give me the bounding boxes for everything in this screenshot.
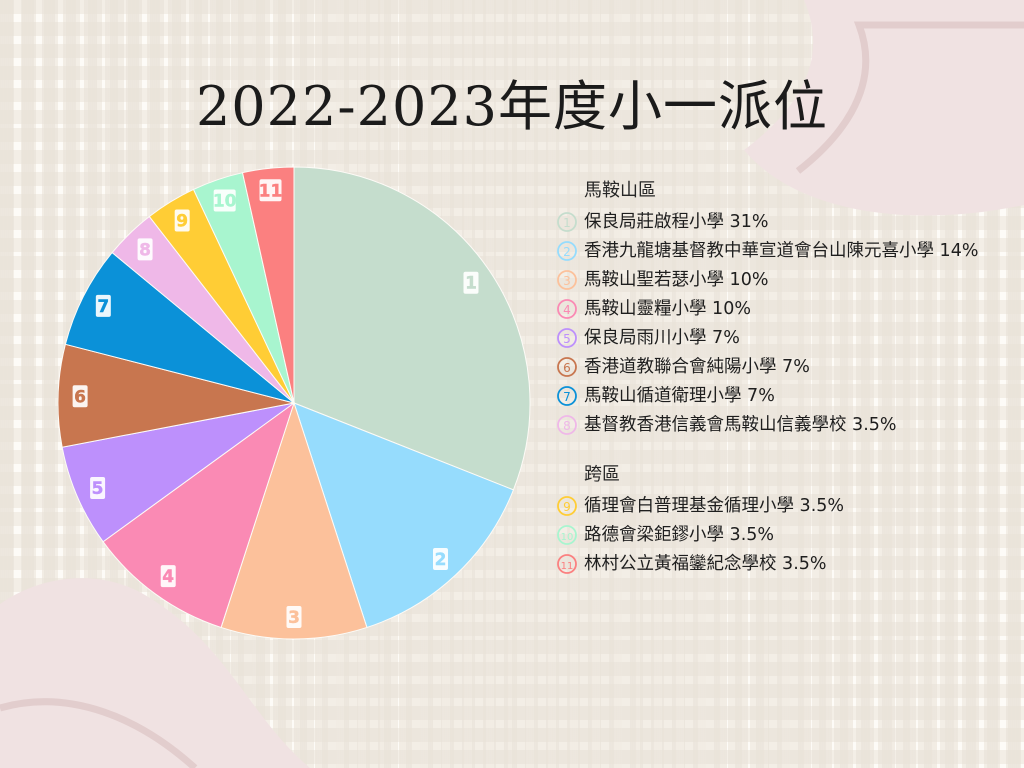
legend-item-label: 馬鞍山聖若瑟小學 10%: [584, 269, 768, 291]
legend-group-district: 1保良局莊啟程小學 31%2香港九龍塘基督教中華宣道會台山陳元喜小學 14%3馬…: [556, 211, 1018, 436]
legend-item-11[interactable]: 11林村公立黃福鑾紀念學校 3.5%: [556, 553, 1018, 575]
pie-slice-label-5: 5: [90, 477, 105, 499]
legend-item-label: 林村公立黃福鑾紀念學校 3.5%: [584, 553, 827, 575]
pie-slice-label-6: 6: [73, 385, 88, 407]
svg-text:9: 9: [176, 212, 188, 232]
legend-item-9[interactable]: 9循理會白普理基金循理小學 3.5%: [556, 495, 1018, 517]
pie-slice-label-7: 7: [96, 295, 111, 317]
pie-chart: 1234567891011: [58, 158, 548, 648]
svg-text:3: 3: [288, 608, 300, 628]
svg-text:5: 5: [92, 479, 104, 499]
svg-text:8: 8: [139, 240, 151, 260]
svg-text:6: 6: [563, 361, 571, 375]
svg-text:2: 2: [435, 550, 447, 570]
pie-chart-svg: 1234567891011: [58, 158, 548, 648]
svg-text:5: 5: [563, 332, 571, 346]
legend-bullet-6: 6: [556, 356, 578, 378]
legend-item-label: 馬鞍山靈糧小學 10%: [584, 298, 751, 320]
legend-bullet-4: 4: [556, 298, 578, 320]
legend-item-label: 循理會白普理基金循理小學 3.5%: [584, 495, 844, 517]
svg-text:2: 2: [563, 245, 571, 259]
svg-text:10: 10: [213, 192, 237, 212]
legend-item-label: 保良局莊啟程小學 31%: [584, 211, 768, 233]
pie-slice-label-2: 2: [433, 548, 448, 570]
legend-bullet-1: 1: [556, 211, 578, 233]
chart-legend: 馬鞍山區 1保良局莊啟程小學 31%2香港九龍塘基督教中華宣道會台山陳元喜小學 …: [556, 176, 1018, 582]
legend-group-cross-district: 9循理會白普理基金循理小學 3.5%10路德會梁鉅鏐小學 3.5%11林村公立黃…: [556, 495, 1018, 575]
svg-text:8: 8: [563, 419, 571, 433]
legend-item-7[interactable]: 7馬鞍山循道衛理小學 7%: [556, 385, 1018, 407]
svg-text:9: 9: [563, 500, 571, 514]
legend-item-2[interactable]: 2香港九龍塘基督教中華宣道會台山陳元喜小學 14%: [556, 240, 1018, 262]
legend-item-1[interactable]: 1保良局莊啟程小學 31%: [556, 211, 1018, 233]
legend-item-label: 基督教香港信義會馬鞍山信義學校 3.5%: [584, 414, 897, 436]
pie-slice-label-8: 8: [138, 238, 153, 260]
pie-slice-label-9: 9: [175, 210, 190, 232]
legend-item-label: 路德會梁鉅鏐小學 3.5%: [584, 524, 774, 546]
legend-item-label: 香港道教聯合會純陽小學 7%: [584, 356, 810, 378]
page-title: 2022-2023年度小一派位: [0, 62, 1024, 141]
legend-bullet-3: 3: [556, 269, 578, 291]
svg-text:10: 10: [561, 532, 574, 543]
svg-text:4: 4: [563, 303, 571, 317]
legend-item-6[interactable]: 6香港道教聯合會純陽小學 7%: [556, 356, 1018, 378]
legend-item-10[interactable]: 10路德會梁鉅鏐小學 3.5%: [556, 524, 1018, 546]
legend-bullet-11: 11: [556, 553, 578, 575]
pie-slice-label-1: 1: [463, 272, 478, 294]
pie-slice-label-4: 4: [161, 565, 176, 587]
legend-item-label: 馬鞍山循道衛理小學 7%: [584, 385, 775, 407]
svg-text:4: 4: [162, 567, 174, 587]
pie-slice-label-11: 11: [259, 179, 283, 201]
svg-text:11: 11: [561, 561, 574, 572]
slide-canvas: 2022-2023年度小一派位 1234567891011 馬鞍山區 1保良局莊…: [0, 0, 1024, 768]
legend-item-label: 香港九龍塘基督教中華宣道會台山陳元喜小學 14%: [584, 240, 978, 262]
legend-bullet-2: 2: [556, 240, 578, 262]
svg-text:6: 6: [74, 387, 86, 407]
legend-item-5[interactable]: 5保良局雨川小學 7%: [556, 327, 1018, 349]
legend-bullet-8: 8: [556, 414, 578, 436]
legend-bullet-7: 7: [556, 385, 578, 407]
legend-bullet-9: 9: [556, 495, 578, 517]
svg-text:1: 1: [465, 274, 477, 294]
pie-slice-label-10: 10: [213, 190, 237, 212]
legend-heading-district: 馬鞍山區: [584, 176, 1018, 202]
legend-bullet-5: 5: [556, 327, 578, 349]
legend-heading-cross-district: 跨區: [584, 460, 1018, 486]
legend-item-3[interactable]: 3馬鞍山聖若瑟小學 10%: [556, 269, 1018, 291]
svg-text:11: 11: [259, 181, 283, 201]
legend-item-4[interactable]: 4馬鞍山靈糧小學 10%: [556, 298, 1018, 320]
svg-text:1: 1: [563, 216, 571, 230]
pie-slice-label-3: 3: [287, 606, 302, 628]
legend-item-8[interactable]: 8基督教香港信義會馬鞍山信義學校 3.5%: [556, 414, 1018, 436]
legend-item-label: 保良局雨川小學 7%: [584, 327, 740, 349]
svg-text:3: 3: [563, 274, 571, 288]
svg-text:7: 7: [97, 297, 109, 317]
svg-text:7: 7: [563, 390, 571, 404]
legend-bullet-10: 10: [556, 524, 578, 546]
